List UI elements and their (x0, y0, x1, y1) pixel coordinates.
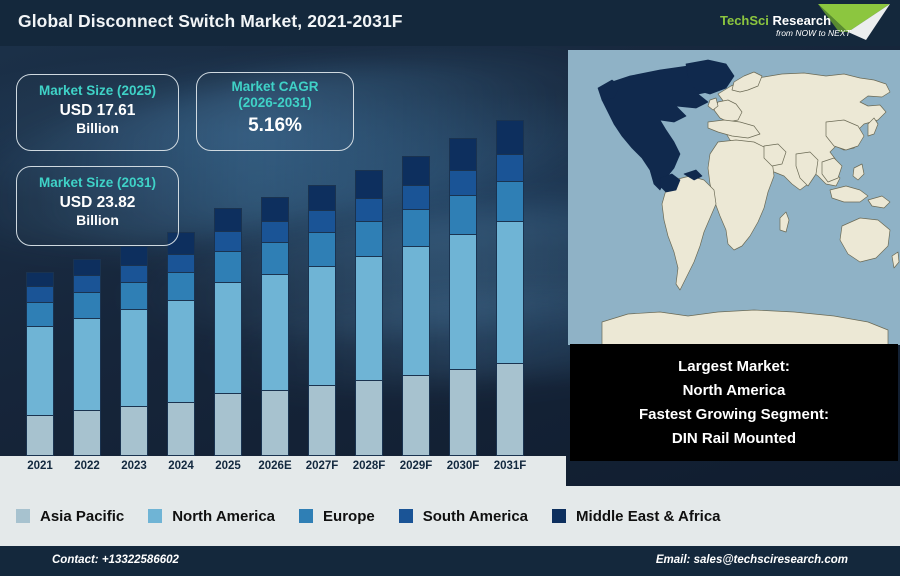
legend-label: Europe (323, 508, 375, 525)
bar-stack (308, 185, 336, 456)
techsci-research-logo[interactable]: TechSci Research from NOW to NEXT (698, 2, 894, 44)
market-cagr-value: 5.16% (197, 114, 353, 137)
bar-segment-south-america[interactable] (449, 170, 477, 195)
bar-segment-asia-pacific[interactable] (26, 415, 54, 456)
footer-bar: Contact: +13322586602 Email: sales@techs… (0, 546, 900, 576)
market-size-2025-unit: Billion (17, 120, 178, 137)
bar-stack (449, 138, 477, 456)
fastest-growing-segment-label: Fastest Growing Segment: (639, 403, 829, 427)
bar-segment-europe[interactable] (26, 302, 54, 326)
bar-segment-north-america[interactable] (73, 318, 101, 411)
bar-segment-north-america[interactable] (449, 234, 477, 369)
key-insights-box: Largest Market: North America Fastest Gr… (570, 344, 898, 461)
world-map-svg (568, 50, 900, 345)
largest-market-label: Largest Market: (678, 355, 790, 379)
bar-segment-north-america[interactable] (261, 274, 289, 389)
bar-segment-europe[interactable] (496, 181, 524, 222)
bar-segment-north-america[interactable] (26, 326, 54, 414)
bar-stack (355, 170, 383, 456)
bar-segment-europe[interactable] (120, 282, 148, 309)
bar-segment-asia-pacific[interactable] (73, 410, 101, 456)
bar-segment-south-america[interactable] (167, 254, 195, 272)
legend-item-europe[interactable]: Europe (299, 508, 375, 525)
bar-segment-middle-east-africa[interactable] (26, 272, 54, 286)
bar-segment-europe[interactable] (214, 251, 242, 282)
market-size-2031-unit: Billion (17, 212, 178, 229)
legend-swatch-icon (299, 509, 313, 523)
legend-label: North America (172, 508, 275, 525)
legend-swatch-icon (148, 509, 162, 523)
bar-segment-middle-east-africa[interactable] (449, 138, 477, 170)
bar-segment-middle-east-africa[interactable] (214, 208, 242, 231)
infographic-root: Global Disconnect Switch Market, 2021-20… (0, 0, 900, 576)
bar-segment-south-america[interactable] (261, 221, 289, 242)
market-size-2025-label: Market Size (2025) (17, 83, 178, 99)
world-map (568, 50, 900, 345)
legend-swatch-icon (16, 509, 30, 523)
chart-legend: Asia PacificNorth AmericaEuropeSouth Ame… (0, 486, 900, 546)
bar-segment-asia-pacific[interactable] (261, 390, 289, 456)
legend-swatch-icon (552, 509, 566, 523)
bar-segment-north-america[interactable] (214, 282, 242, 393)
bar-segment-north-america[interactable] (167, 300, 195, 401)
market-size-2025-value: USD 17.61 (17, 101, 178, 120)
legend-label: Asia Pacific (40, 508, 124, 525)
bar-segment-europe[interactable] (402, 209, 430, 246)
bar-segment-south-america[interactable] (26, 286, 54, 302)
logo-wordmark: TechSci Research (720, 13, 831, 28)
bar-segment-europe[interactable] (167, 272, 195, 300)
largest-market-value: North America (683, 379, 786, 403)
bar-segment-europe[interactable] (261, 242, 289, 274)
bar-segment-middle-east-africa[interactable] (73, 259, 101, 275)
bar-segment-asia-pacific[interactable] (167, 402, 195, 456)
bar-stack (73, 259, 101, 456)
legend-item-middle-east-africa[interactable]: Middle East & Africa (552, 508, 720, 525)
legend-label: Middle East & Africa (576, 508, 720, 525)
market-cagr-card: Market CAGR (2026-2031) 5.16% (196, 72, 354, 151)
bar-segment-asia-pacific[interactable] (449, 369, 477, 456)
footer-contact[interactable]: Contact: +13322586602 (52, 554, 179, 566)
legend-swatch-icon (399, 509, 413, 523)
bar-segment-asia-pacific[interactable] (402, 375, 430, 456)
bar-stack (496, 120, 524, 456)
bar-stack (26, 272, 54, 456)
bar-segment-europe[interactable] (449, 195, 477, 234)
bar-segment-north-america[interactable] (308, 266, 336, 386)
footer-email[interactable]: Email: sales@techsciresearch.com (656, 554, 848, 566)
market-cagr-label: Market CAGR (197, 79, 353, 95)
fastest-growing-segment-value: DIN Rail Mounted (672, 427, 796, 451)
bar-segment-europe[interactable] (355, 221, 383, 256)
bar-segment-south-america[interactable] (308, 210, 336, 232)
bar-segment-middle-east-africa[interactable] (308, 185, 336, 211)
logo-tagline: from NOW to NEXT (776, 28, 851, 38)
legend-label: South America (423, 508, 528, 525)
market-size-2031-label: Market Size (2031) (17, 175, 178, 191)
bar-segment-asia-pacific[interactable] (496, 363, 524, 456)
bar-segment-europe[interactable] (308, 232, 336, 266)
header-bar: Global Disconnect Switch Market, 2021-20… (0, 0, 900, 46)
legend-item-asia-pacific[interactable]: Asia Pacific (16, 508, 124, 525)
market-size-2025-card: Market Size (2025) USD 17.61 Billion (16, 74, 179, 151)
bar-segment-north-america[interactable] (355, 256, 383, 380)
bar-segment-south-america[interactable] (73, 275, 101, 291)
bar-segment-middle-east-africa[interactable] (355, 170, 383, 198)
bar-segment-north-america[interactable] (120, 309, 148, 406)
bar-segment-europe[interactable] (73, 292, 101, 318)
logo-text-techsci: TechSci (720, 13, 769, 28)
page-title: Global Disconnect Switch Market, 2021-20… (18, 11, 403, 32)
bar-stack (402, 156, 430, 456)
market-size-2031-card: Market Size (2031) USD 23.82 Billion (16, 166, 179, 246)
bar-segment-asia-pacific[interactable] (120, 406, 148, 456)
bar-segment-asia-pacific[interactable] (308, 385, 336, 456)
logo-text-research: Research (769, 13, 831, 28)
bar-segment-south-america[interactable] (120, 265, 148, 282)
bar-segment-middle-east-africa[interactable] (261, 197, 289, 221)
bar-segment-south-america[interactable] (355, 198, 383, 221)
bar-stack (167, 232, 195, 456)
bar-segment-asia-pacific[interactable] (214, 393, 242, 456)
bar-segment-north-america[interactable] (402, 246, 430, 375)
market-cagr-period: (2026-2031) (197, 95, 353, 111)
legend-item-north-america[interactable]: North America (148, 508, 275, 525)
bar-segment-south-america[interactable] (214, 231, 242, 251)
bar-segment-middle-east-africa[interactable] (120, 246, 148, 265)
bar-segment-north-america[interactable] (496, 221, 524, 362)
bar-stack (214, 208, 242, 456)
market-size-2031-value: USD 23.82 (17, 193, 178, 212)
bar-segment-asia-pacific[interactable] (355, 380, 383, 456)
bar-segment-middle-east-africa[interactable] (402, 156, 430, 186)
legend-item-south-america[interactable]: South America (399, 508, 528, 525)
bar-segment-middle-east-africa[interactable] (496, 120, 524, 154)
bar-segment-south-america[interactable] (496, 154, 524, 180)
bar-stack (261, 197, 289, 456)
bar-stack (120, 246, 148, 456)
bar-segment-south-america[interactable] (402, 185, 430, 209)
